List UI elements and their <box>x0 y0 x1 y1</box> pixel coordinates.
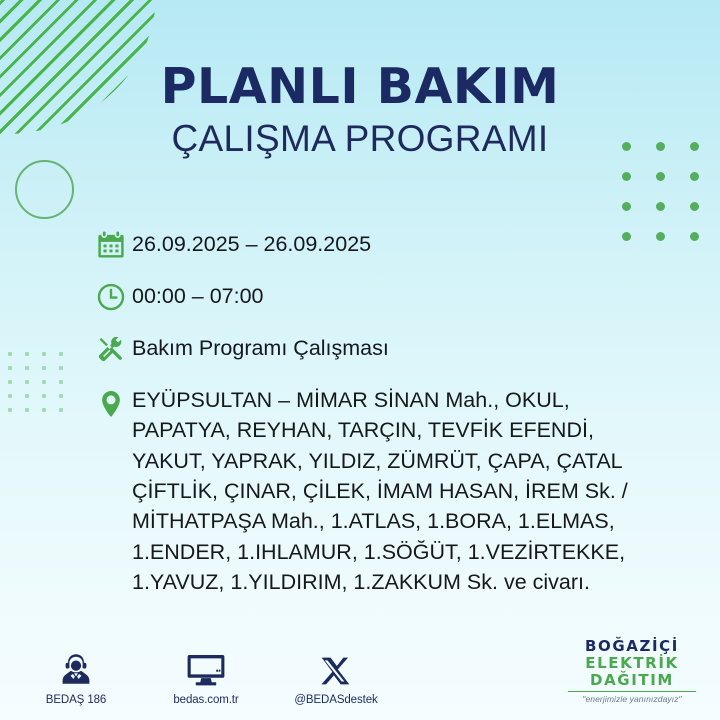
dot <box>25 408 29 412</box>
footer-item-call-center[interactable]: BEDAŞ 186 <box>28 646 124 706</box>
dot <box>59 394 63 398</box>
logo-line-elektrik: ELEKTRİK <box>562 655 702 672</box>
dot <box>25 380 29 384</box>
dot <box>42 380 46 384</box>
detail-row-time: 00:00 – 07:00 <box>96 280 680 314</box>
dot <box>59 352 63 356</box>
detail-time-range: 00:00 – 07:00 <box>132 280 264 312</box>
detail-address: EYÜPSULTAN – MİMAR SİNAN Mah., OKUL, PAP… <box>132 384 628 597</box>
outage-details: 26.09.2025 – 26.09.2025 00:00 – 07:00 <box>96 228 680 597</box>
logo-line-dagitim: DAĞITIM <box>562 672 702 689</box>
footer-label-call-center: BEDAŞ 186 <box>28 694 124 706</box>
dot <box>42 408 46 412</box>
logo-line-bogazici: BOĞAZİÇİ <box>562 638 702 655</box>
dot <box>25 366 29 370</box>
map-pin-icon <box>96 384 132 421</box>
dot <box>8 380 12 384</box>
monitor-icon <box>158 646 254 688</box>
dot-grid-right-decoration <box>622 142 700 242</box>
footer-item-x-account[interactable]: @BEDASdestek <box>288 646 384 706</box>
page-subtitle: ÇALIŞMA PROGRAMI <box>0 120 720 157</box>
dot <box>42 394 46 398</box>
dot <box>656 202 665 211</box>
detail-row-address: EYÜPSULTAN – MİMAR SİNAN Mah., OKUL, PAP… <box>96 384 680 597</box>
detail-row-work-type: Bakım Programı Çalışması <box>96 332 680 366</box>
dot <box>8 366 12 370</box>
x-logo-icon <box>288 646 384 688</box>
call-center-agent-icon <box>28 646 124 688</box>
detail-date-range: 26.09.2025 – 26.09.2025 <box>132 228 371 260</box>
footer-item-website[interactable]: bedas.com.tr <box>158 646 254 706</box>
calendar-icon <box>96 228 132 262</box>
dot <box>59 408 63 412</box>
clock-icon <box>96 280 132 314</box>
bogazici-elektrik-dagitim-logo: BOĞAZİÇİ ELEKTRİK DAĞITIM "enerjimizle y… <box>562 638 702 704</box>
dot <box>42 352 46 356</box>
wrench-screwdriver-icon <box>96 332 132 366</box>
dot <box>25 352 29 356</box>
dot <box>8 394 12 398</box>
page-title: PLANLI BAKIM <box>0 62 720 111</box>
dot <box>8 352 12 356</box>
detail-work-type: Bakım Programı Çalışması <box>132 332 389 364</box>
detail-row-date: 26.09.2025 – 26.09.2025 <box>96 228 680 262</box>
dot <box>59 366 63 370</box>
footer-label-website: bedas.com.tr <box>158 694 254 706</box>
dot <box>8 408 12 412</box>
dot <box>622 172 631 181</box>
dot <box>656 172 665 181</box>
planned-maintenance-poster: PLANLI BAKIM ÇALIŞMA PROGRAMI <box>0 0 720 720</box>
dot <box>690 232 699 241</box>
logo-tagline: "enerjimizle yanınızdayız" <box>562 694 702 704</box>
dot <box>622 202 631 211</box>
dot <box>690 202 699 211</box>
dot <box>59 380 63 384</box>
dot-grid-left-decoration <box>8 352 66 414</box>
dot <box>690 172 699 181</box>
dot <box>42 366 46 370</box>
footer-label-x-account: @BEDASdestek <box>288 694 384 706</box>
footer-contact-bar: BEDAŞ 186 bedas.com.tr <box>28 646 384 706</box>
circle-outline-decoration <box>15 160 74 219</box>
logo-divider <box>568 691 696 693</box>
poster-header: PLANLI BAKIM ÇALIŞMA PROGRAMI <box>0 62 720 157</box>
dot <box>25 394 29 398</box>
